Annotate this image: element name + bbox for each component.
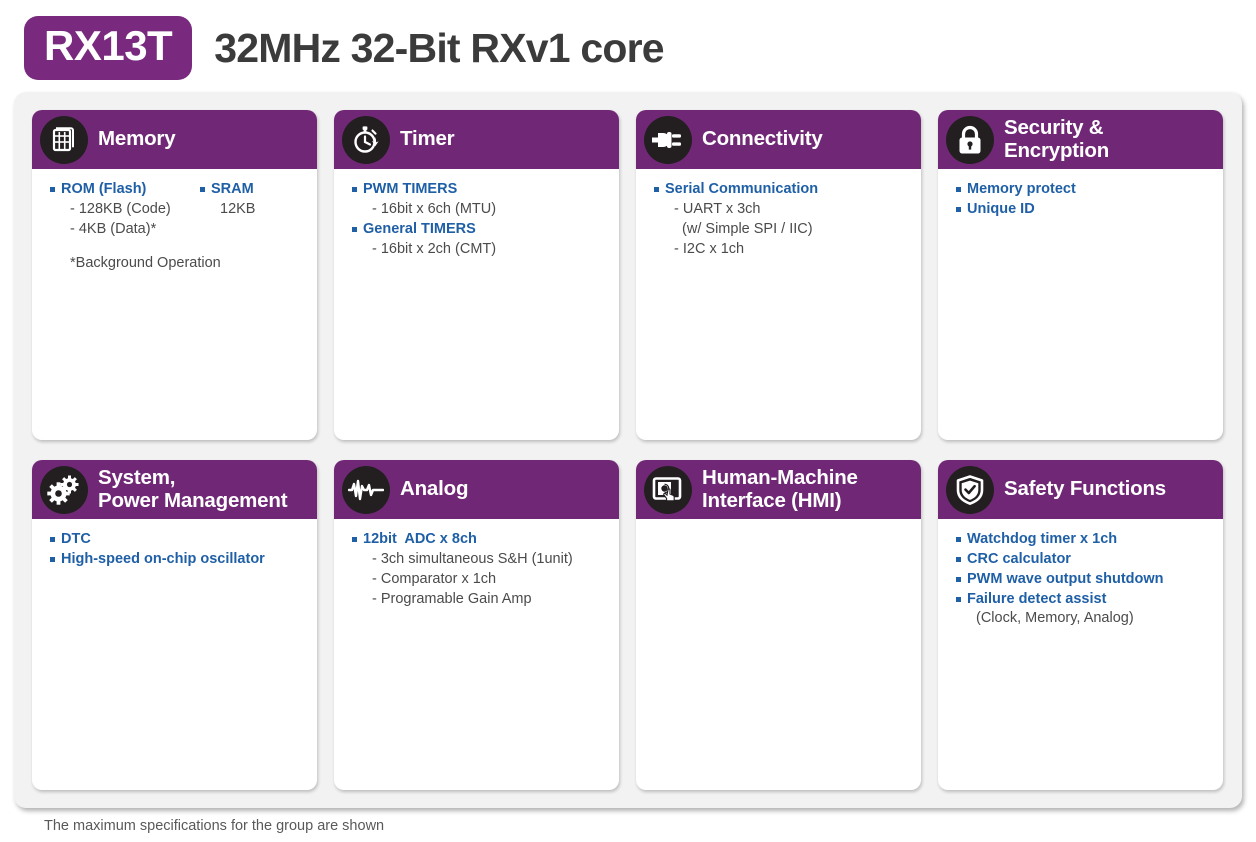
- spec-bullet: Serial Communication: [652, 180, 911, 200]
- touchscreen-icon: [644, 466, 692, 514]
- feature-card-timer[interactable]: TimerPWM TIMERS- 16bit x 6ch (MTU)Genera…: [334, 110, 619, 440]
- spec-subitem: - UART x 3ch: [652, 200, 911, 220]
- spec-column: SRAM12KB: [198, 180, 255, 240]
- memory-chip-icon: [40, 116, 88, 164]
- spec-bullet: DTC: [48, 530, 307, 550]
- spec-bullet: ROM (Flash): [48, 180, 198, 200]
- spec-subitem: - 16bit x 6ch (MTU): [350, 200, 609, 220]
- card-title-safety-functions: Safety Functions: [1004, 478, 1166, 500]
- card-title-security-encryption: Security & Encryption: [1004, 117, 1109, 161]
- feature-panel: MemoryROM (Flash)- 128KB (Code)- 4KB (Da…: [14, 92, 1242, 808]
- part-number-badge: RX13T: [24, 16, 192, 80]
- card-body-memory: ROM (Flash)- 128KB (Code)- 4KB (Data)*SR…: [32, 169, 317, 273]
- card-header-memory: Memory: [32, 110, 317, 169]
- card-header-analog: Analog: [334, 460, 619, 519]
- spec-bullet: Failure detect assist: [954, 590, 1213, 610]
- plug-connector-icon: [644, 116, 692, 164]
- spec-bullet: 12bit ADC x 8ch: [350, 530, 609, 550]
- card-footnote: *Background Operation: [48, 254, 307, 274]
- spec-bullet: Memory protect: [954, 180, 1213, 200]
- card-title-analog: Analog: [400, 478, 468, 500]
- spec-bullet: Unique ID: [954, 200, 1213, 220]
- feature-card-analog[interactable]: Analog12bit ADC x 8ch- 3ch simultaneous …: [334, 460, 619, 790]
- spec-subitem: - 16bit x 2ch (CMT): [350, 240, 609, 260]
- spec-subitem: - 4KB (Data)*: [48, 220, 198, 240]
- card-title-connectivity: Connectivity: [702, 128, 823, 150]
- spec-subitem: - 3ch simultaneous S&H (1unit): [350, 550, 609, 570]
- card-header-connectivity: Connectivity: [636, 110, 921, 169]
- card-body-analog: 12bit ADC x 8ch- 3ch simultaneous S&H (1…: [334, 519, 619, 609]
- card-title-timer: Timer: [400, 128, 454, 150]
- spec-columns: ROM (Flash)- 128KB (Code)- 4KB (Data)*SR…: [48, 180, 307, 240]
- feature-card-human-machine-interface[interactable]: Human-Machine Interface (HMI): [636, 460, 921, 790]
- spec-column: ROM (Flash)- 128KB (Code)- 4KB (Data)*: [48, 180, 198, 240]
- spec-subitem: - 128KB (Code): [48, 200, 198, 220]
- shield-check-icon: [946, 466, 994, 514]
- feature-card-security-encryption[interactable]: Security & EncryptionMemory protectUniqu…: [938, 110, 1223, 440]
- card-header-timer: Timer: [334, 110, 619, 169]
- spec-subitem: - I2C x 1ch: [652, 240, 911, 260]
- footer-note: The maximum specifications for the group…: [44, 818, 384, 834]
- spec-subitem: 12KB: [198, 200, 255, 220]
- gears-icon: [40, 466, 88, 514]
- card-title-human-machine-interface: Human-Machine Interface (HMI): [702, 467, 858, 511]
- feature-card-system-power-management[interactable]: System, Power ManagementDTCHigh-speed on…: [32, 460, 317, 790]
- spec-bullet: PWM TIMERS: [350, 180, 609, 200]
- spec-subitem: (Clock, Memory, Analog): [954, 609, 1213, 629]
- feature-card-memory[interactable]: MemoryROM (Flash)- 128KB (Code)- 4KB (Da…: [32, 110, 317, 440]
- card-body-security-encryption: Memory protectUnique ID: [938, 169, 1223, 220]
- waveform-icon: [342, 466, 390, 514]
- spec-bullet: Watchdog timer x 1ch: [954, 530, 1213, 550]
- card-title-system-power-management: System, Power Management: [98, 467, 287, 511]
- card-body-timer: PWM TIMERS- 16bit x 6ch (MTU)General TIM…: [334, 169, 619, 259]
- spec-bullet: CRC calculator: [954, 550, 1213, 570]
- card-body-connectivity: Serial Communication- UART x 3ch (w/ Sim…: [636, 169, 921, 259]
- page-title: 32MHz 32-Bit RXv1 core: [214, 25, 664, 72]
- card-header-system-power-management: System, Power Management: [32, 460, 317, 519]
- card-title-memory: Memory: [98, 128, 175, 150]
- lock-icon: [946, 116, 994, 164]
- spec-bullet: High-speed on-chip oscillator: [48, 550, 307, 570]
- feature-card-grid: MemoryROM (Flash)- 128KB (Code)- 4KB (Da…: [32, 110, 1224, 790]
- card-body-system-power-management: DTCHigh-speed on-chip oscillator: [32, 519, 317, 570]
- stopwatch-icon: [342, 116, 390, 164]
- spec-subitem: - Comparator x 1ch: [350, 570, 609, 590]
- spec-bullet: PWM wave output shutdown: [954, 570, 1213, 590]
- card-body-human-machine-interface: [636, 519, 921, 530]
- feature-card-connectivity[interactable]: ConnectivitySerial Communication- UART x…: [636, 110, 921, 440]
- spec-bullet: SRAM: [198, 180, 255, 200]
- spec-subitem: (w/ Simple SPI / IIC): [652, 220, 911, 240]
- spec-bullet: General TIMERS: [350, 220, 609, 240]
- card-header-human-machine-interface: Human-Machine Interface (HMI): [636, 460, 921, 519]
- card-header-safety-functions: Safety Functions: [938, 460, 1223, 519]
- feature-card-safety-functions[interactable]: Safety FunctionsWatchdog timer x 1chCRC …: [938, 460, 1223, 790]
- spec-subitem: - Programable Gain Amp: [350, 590, 609, 610]
- spacer: [48, 240, 307, 254]
- card-body-safety-functions: Watchdog timer x 1chCRC calculatorPWM wa…: [938, 519, 1223, 629]
- page-header: RX13T 32MHz 32-Bit RXv1 core: [24, 12, 664, 84]
- card-header-security-encryption: Security & Encryption: [938, 110, 1223, 169]
